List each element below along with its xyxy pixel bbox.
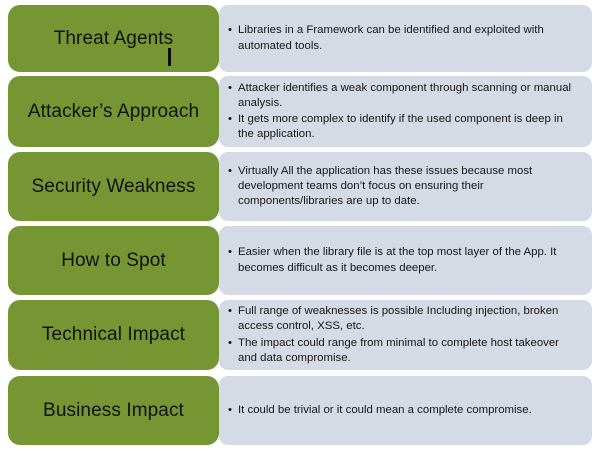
matrix-row: Security Weakness • Virtually All the ap… <box>0 152 600 221</box>
text-caret-artifact <box>168 48 171 66</box>
row-detail-box-business-impact[interactable]: • It could be trivial or it could mean a… <box>219 376 592 445</box>
bullet-text: It gets more complex to identify if the … <box>238 113 563 140</box>
row-label-box-technical-impact[interactable]: Technical Impact <box>8 300 219 370</box>
matrix-row: How to Spot • Easier when the library fi… <box>0 226 600 295</box>
bullet-list: • Full range of weaknesses is possible I… <box>227 304 580 365</box>
matrix-row: Technical Impact • Full range of weaknes… <box>0 300 600 370</box>
row-label-box-threat-agents[interactable]: Threat Agents <box>8 5 219 72</box>
matrix-row: Business Impact • It could be trivial or… <box>0 376 600 445</box>
bullet-list: • It could be trivial or it could mean a… <box>227 403 580 418</box>
row-label-text: Business Impact <box>43 400 184 422</box>
row-detail-box-security-weakness[interactable]: • Virtually All the application has thes… <box>219 152 592 221</box>
bullet-dot-icon: • <box>228 23 232 38</box>
bullet-list: • Libraries in a Framework can be identi… <box>227 23 580 53</box>
bullet-dot-icon: • <box>228 403 232 418</box>
row-label-box-business-impact[interactable]: Business Impact <box>8 376 219 445</box>
row-detail-box-attackers-approach[interactable]: • Attacker identifies a weak component t… <box>219 76 592 147</box>
bullet-dot-icon: • <box>228 336 232 351</box>
row-label-text: Threat Agents <box>54 28 174 50</box>
row-detail-box-technical-impact[interactable]: • Full range of weaknesses is possible I… <box>219 300 592 370</box>
bullet-text: Virtually All the application has these … <box>238 165 532 207</box>
bullet-dot-icon: • <box>228 304 232 319</box>
bullet-dot-icon: • <box>228 112 232 127</box>
list-item: • Easier when the library file is at the… <box>227 245 580 275</box>
list-item: • Attacker identifies a weak component t… <box>227 81 580 111</box>
list-item: • It could be trivial or it could mean a… <box>227 403 580 418</box>
bullet-dot-icon: • <box>228 164 232 179</box>
row-label-box-security-weakness[interactable]: Security Weakness <box>8 152 219 221</box>
row-detail-box-threat-agents[interactable]: • Libraries in a Framework can be identi… <box>219 5 592 72</box>
risk-matrix-diagram: Threat Agents • Libraries in a Framework… <box>0 0 600 451</box>
bullet-dot-icon: • <box>228 245 232 260</box>
bullet-list: • Virtually All the application has thes… <box>227 164 580 209</box>
bullet-text: Attacker identifies a weak component thr… <box>238 82 571 109</box>
list-item: • Full range of weaknesses is possible I… <box>227 304 580 334</box>
bullet-dot-icon: • <box>228 81 232 96</box>
list-item: • Virtually All the application has thes… <box>227 164 580 209</box>
bullet-list: • Attacker identifies a weak component t… <box>227 81 580 142</box>
matrix-row: Threat Agents • Libraries in a Framework… <box>0 5 600 72</box>
bullet-text: Full range of weaknesses is possible Inc… <box>238 305 558 332</box>
list-item: • The impact could range from minimal to… <box>227 336 580 366</box>
bullet-text: The impact could range from minimal to c… <box>238 337 559 364</box>
row-label-text: Technical Impact <box>42 324 185 346</box>
row-label-text: How to Spot <box>61 250 166 272</box>
row-label-box-attackers-approach[interactable]: Attacker’s Approach <box>8 76 219 147</box>
bullet-text: It could be trivial or it could mean a c… <box>238 404 532 416</box>
list-item: • Libraries in a Framework can be identi… <box>227 23 580 53</box>
bullet-text: Easier when the library file is at the t… <box>238 246 556 273</box>
row-detail-box-how-to-spot[interactable]: • Easier when the library file is at the… <box>219 226 592 295</box>
row-label-box-how-to-spot[interactable]: How to Spot <box>8 226 219 295</box>
bullet-text: Libraries in a Framework can be identifi… <box>238 24 544 51</box>
list-item: • It gets more complex to identify if th… <box>227 112 580 142</box>
row-label-text: Security Weakness <box>32 176 196 198</box>
matrix-row: Attacker’s Approach • Attacker identifie… <box>0 76 600 147</box>
row-label-text: Attacker’s Approach <box>28 101 199 123</box>
bullet-list: • Easier when the library file is at the… <box>227 245 580 275</box>
